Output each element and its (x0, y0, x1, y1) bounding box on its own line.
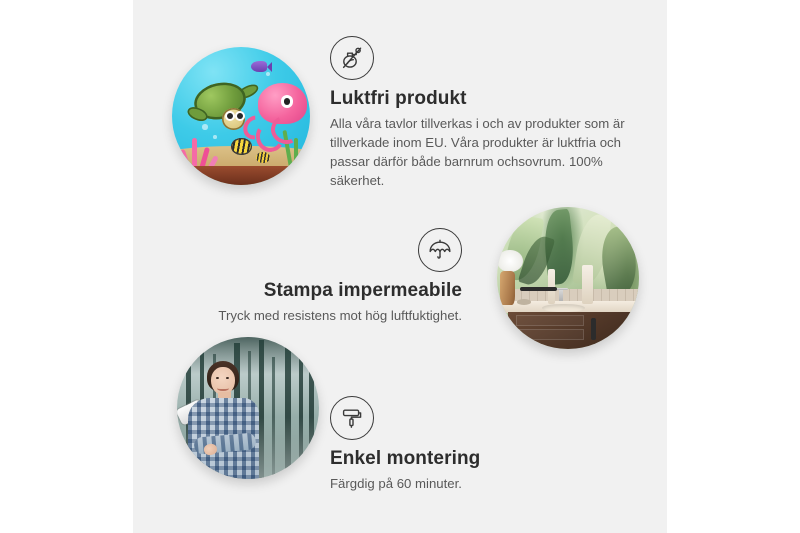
turtle-head (222, 108, 245, 130)
feature-odourless: Luktfri produkt Alla våra tavlor tillver… (330, 36, 630, 190)
cabinet-drawer (516, 315, 584, 326)
cabinet-drawer (516, 329, 584, 340)
yellow-fish-icon (231, 138, 252, 155)
feature-title: Luktfri produkt (330, 87, 630, 111)
bubble-icon (266, 72, 270, 76)
product-photo-bathroom (497, 207, 639, 349)
soap-dish-icon (517, 299, 531, 305)
drawer-handle (591, 318, 596, 341)
person-smile (217, 386, 228, 391)
flower-bouquet-icon (497, 250, 523, 273)
person-eye (226, 377, 229, 379)
octopus-eye (281, 95, 293, 107)
umbrella-icon (418, 228, 462, 272)
feature-title: Enkel montering (330, 447, 610, 471)
vanity-cabinet (508, 312, 639, 349)
feature-title: Stampa impermeabile (190, 279, 462, 303)
paint-roller-icon (330, 396, 374, 440)
feature-description: Alla våra tavlor tillverkas i och av pro… (330, 114, 630, 191)
feature-description: Färgdig på 60 minuter. (330, 474, 610, 493)
drawer-handle (520, 287, 557, 292)
yellow-fish-icon (256, 152, 270, 163)
no-odour-spray-bottle-icon (330, 36, 374, 80)
turtle-eye (237, 113, 243, 119)
feature-easy-mount: Enkel montering Färgdig på 60 minuter. (330, 396, 610, 493)
sink-basin (542, 304, 585, 313)
vase-icon (500, 271, 516, 305)
product-photo-underwater (172, 47, 310, 185)
product-feature-banner: Luktfri produkt Alla våra tavlor tillver… (0, 0, 800, 533)
product-photo-painter (177, 337, 319, 479)
forest-canopy (177, 337, 319, 374)
purple-fish-icon (251, 61, 268, 72)
bubble-icon (202, 124, 208, 130)
bubble-icon (213, 135, 217, 139)
feature-description: Tryck med resistens mot hög luftfuktighe… (190, 306, 462, 325)
bottle-icon (582, 265, 593, 303)
sea-floor-rocks (172, 166, 310, 185)
feature-waterproof: Stampa impermeabile Tryck med resistens … (190, 228, 462, 325)
